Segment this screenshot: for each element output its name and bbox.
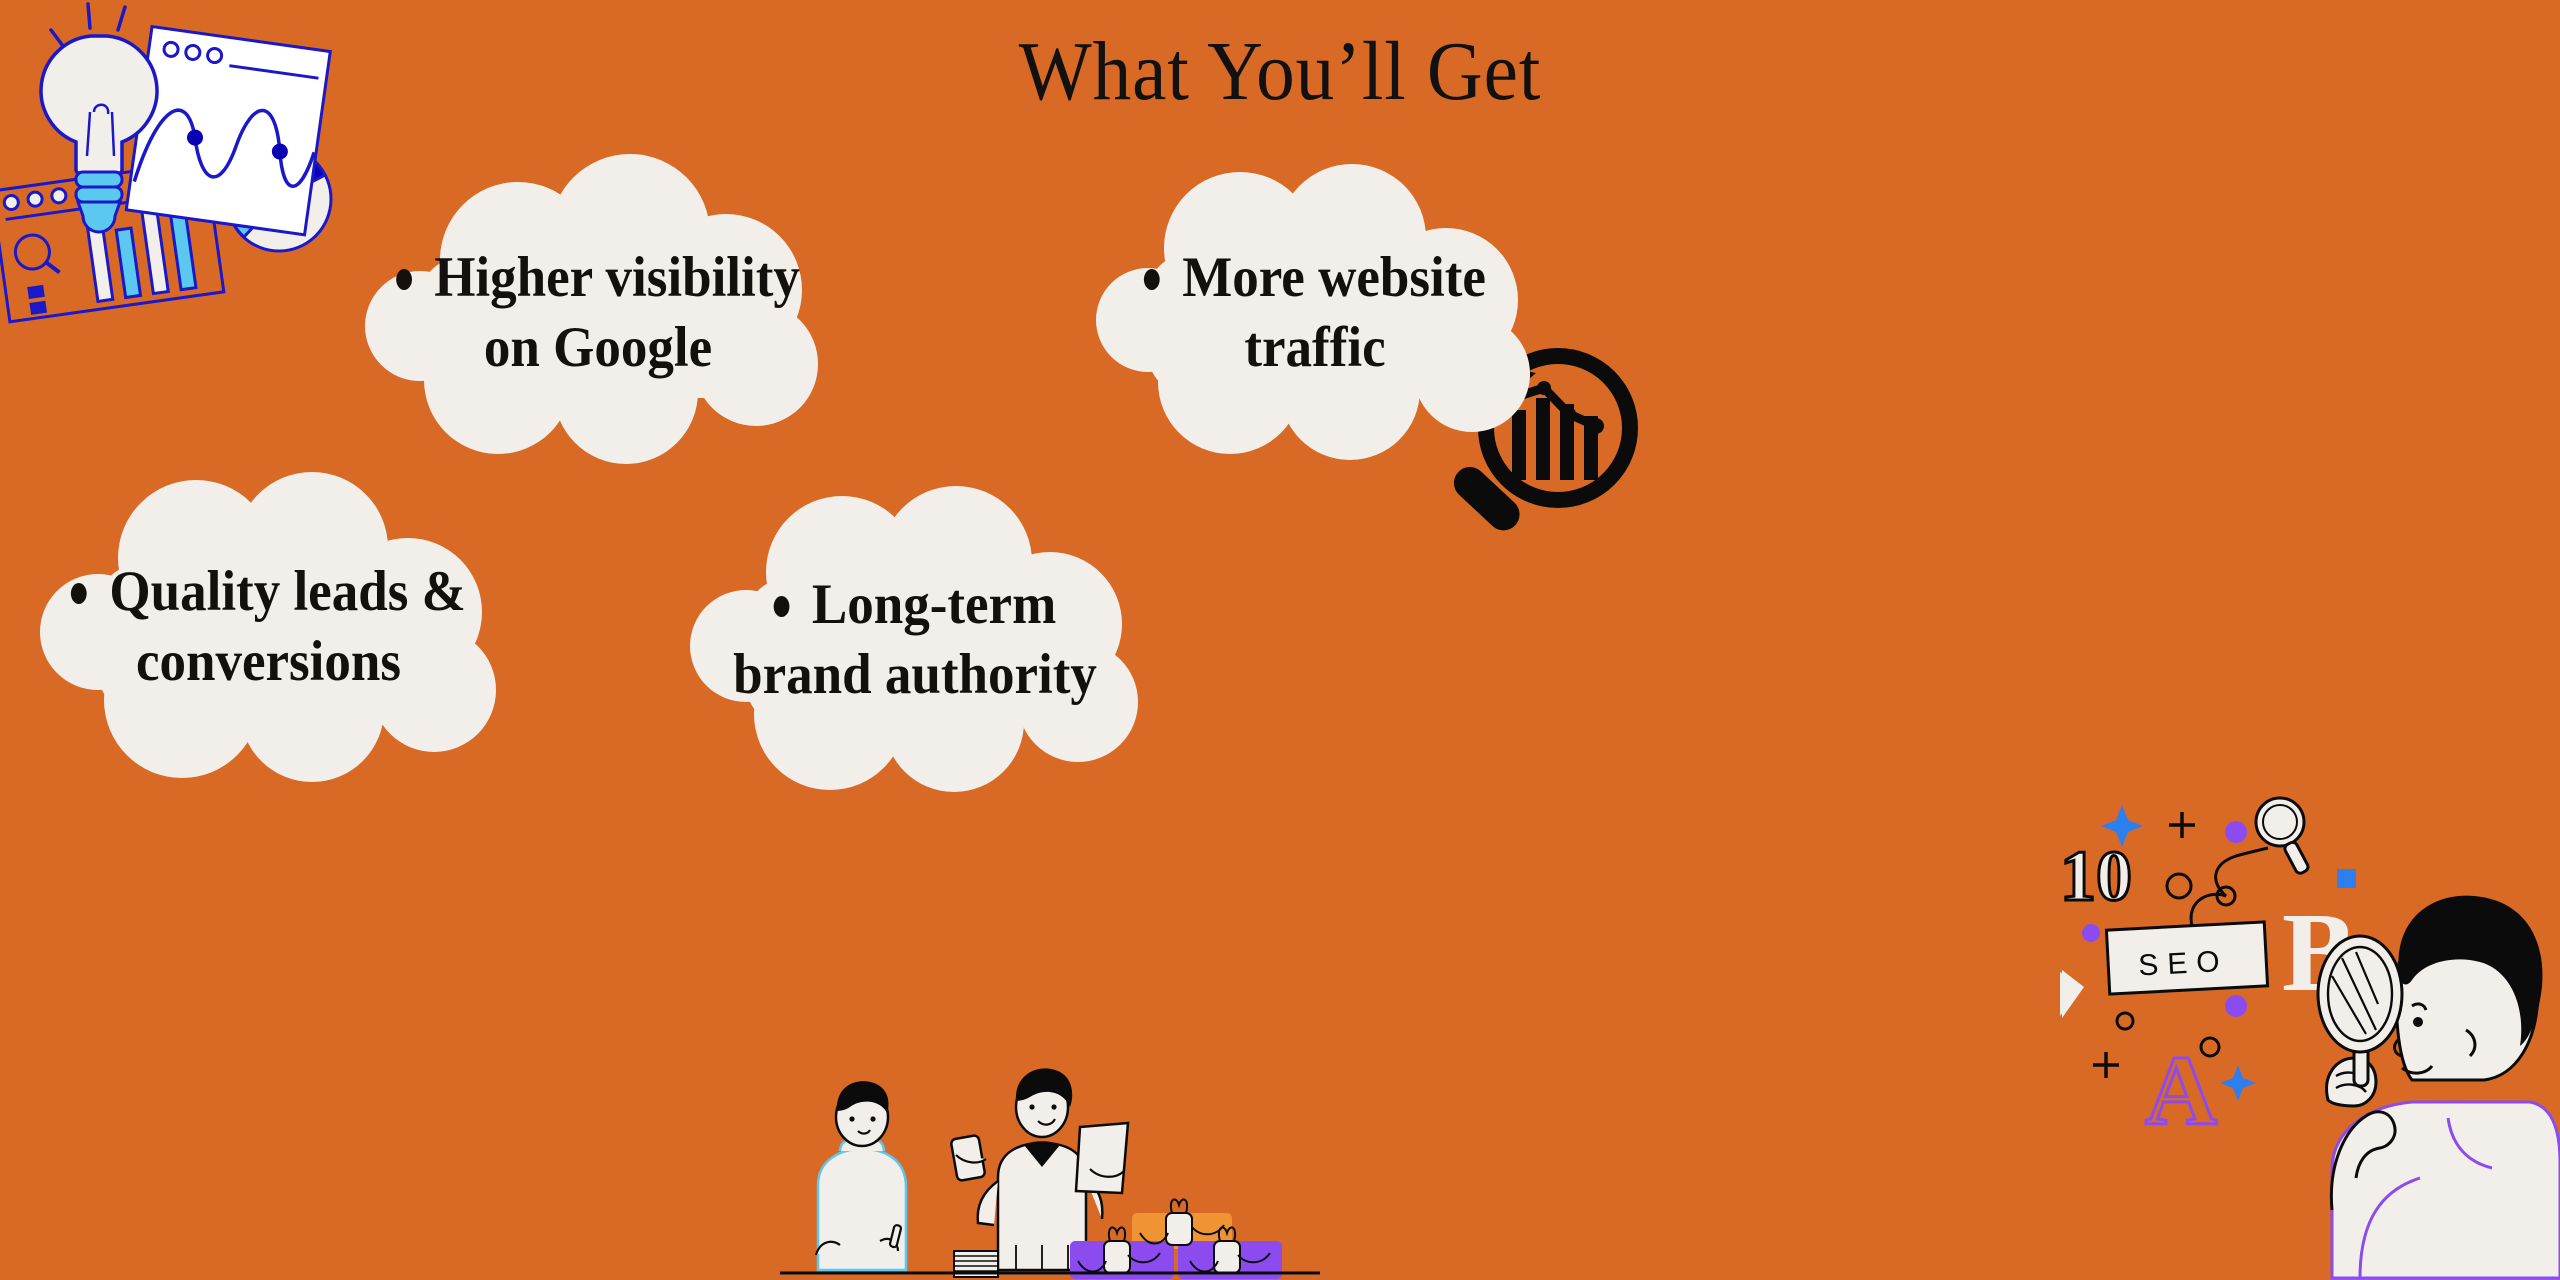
team-with-gift-boxes-illustration: [780, 1055, 1320, 1280]
seo-tag: SEO: [2106, 922, 2267, 994]
circle-outline-1: [2167, 874, 2191, 898]
square-blue-icon: [2337, 869, 2356, 888]
lightbulb-analytics-illustration: [0, 0, 334, 324]
plus-icon-1: [2169, 812, 2195, 838]
cloud-quality-leads: Quality leads & conversions: [36, 472, 501, 782]
rank-number-10: 10: [2060, 836, 2132, 916]
cloud-line-1: More website: [1144, 243, 1486, 313]
cloud-line-2: on Google: [484, 313, 712, 383]
cloud-line-2: traffic: [1244, 313, 1385, 383]
browser-window-linechart-icon: [126, 27, 330, 235]
bullet-icon: [774, 596, 790, 617]
dot-purple-2: [2082, 924, 2100, 942]
cloud-text-block: Long-term brand authority: [706, 490, 1125, 790]
dot-purple-3: [2225, 995, 2247, 1017]
cloud-line-1: Higher visibility: [396, 243, 800, 313]
sparkle-icon-2: [2220, 1065, 2256, 1101]
slide-canvas: What You’ll Get: [0, 0, 2560, 1280]
cloud-line-1: Long-term: [774, 570, 1057, 640]
dot-purple-1: [2225, 821, 2247, 843]
cloud-line-1: Quality leads &: [71, 557, 466, 627]
person-standing-icon: [951, 1068, 1128, 1270]
letter-a: A: [2145, 1035, 2217, 1146]
cloud-text-block: Higher visibility on Google: [384, 168, 812, 458]
plus-icon-2: [2093, 1052, 2119, 1078]
cloud-text-block: Quality leads & conversions: [52, 472, 484, 782]
bullet-icon: [396, 269, 412, 290]
cloud-text-block: More website traffic: [1115, 168, 1515, 458]
cloud-line-2: conversions: [136, 627, 401, 697]
person-seated-icon: [816, 1081, 906, 1270]
cloud-long-term-brand-authority: Long-term brand authority: [690, 490, 1140, 790]
cloud-line-2: brand authority: [733, 640, 1097, 710]
svg-text:SEO: SEO: [2137, 945, 2229, 983]
seo-man-magnifier-illustration: 10 SEO B A: [2060, 790, 2560, 1280]
cloud-higher-visibility: Higher visibility on Google: [368, 168, 828, 458]
small-magnifier-icon: [2256, 798, 2310, 875]
bullet-icon: [1144, 269, 1160, 290]
page-title: What You’ll Get: [102, 28, 2457, 116]
cloud-more-website-traffic: More website traffic: [1100, 168, 1530, 458]
bullet-icon: [71, 583, 87, 604]
circle-outline-2: [2117, 1013, 2133, 1029]
svg-text:10: 10: [2060, 836, 2132, 916]
man-with-magnifier-icon: [2318, 896, 2560, 1278]
